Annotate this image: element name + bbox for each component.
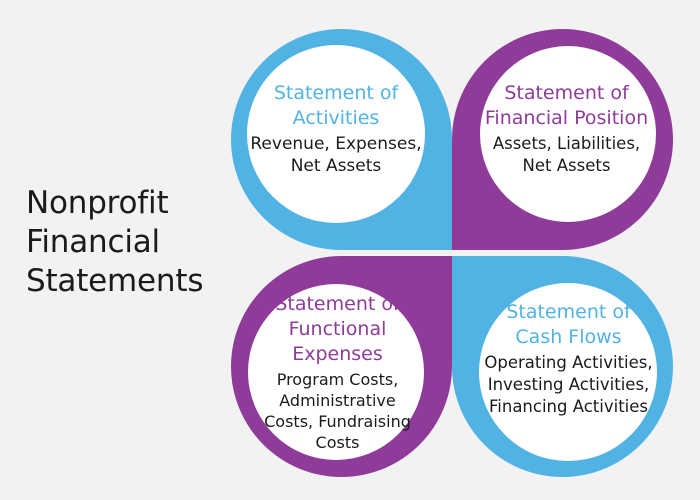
- petal-inner-fill: [480, 46, 656, 222]
- diagram-canvas: Nonprofit Financial Statements Statement…: [0, 0, 700, 500]
- page-title-line-3: Statements: [26, 262, 226, 301]
- petal-inner-fill: [247, 45, 425, 223]
- petal-inner-fill: [248, 284, 424, 460]
- page-title-line-2: Financial: [26, 223, 226, 262]
- petal-statement-of-activities[interactable]: Statement of Activities Revenue, Expense…: [231, 29, 452, 250]
- petal-inner-fill: [479, 283, 657, 461]
- page-title-line-1: Nonprofit: [26, 184, 226, 223]
- petal-statement-of-functional-expenses[interactable]: Statement of Functional Expenses Program…: [231, 256, 452, 477]
- petal-statement-of-financial-position[interactable]: Statement of Financial Position Assets, …: [452, 29, 673, 250]
- page-title: Nonprofit Financial Statements: [26, 184, 226, 301]
- petal-statement-of-cash-flows[interactable]: Statement of Cash Flows Operating Activi…: [452, 256, 673, 477]
